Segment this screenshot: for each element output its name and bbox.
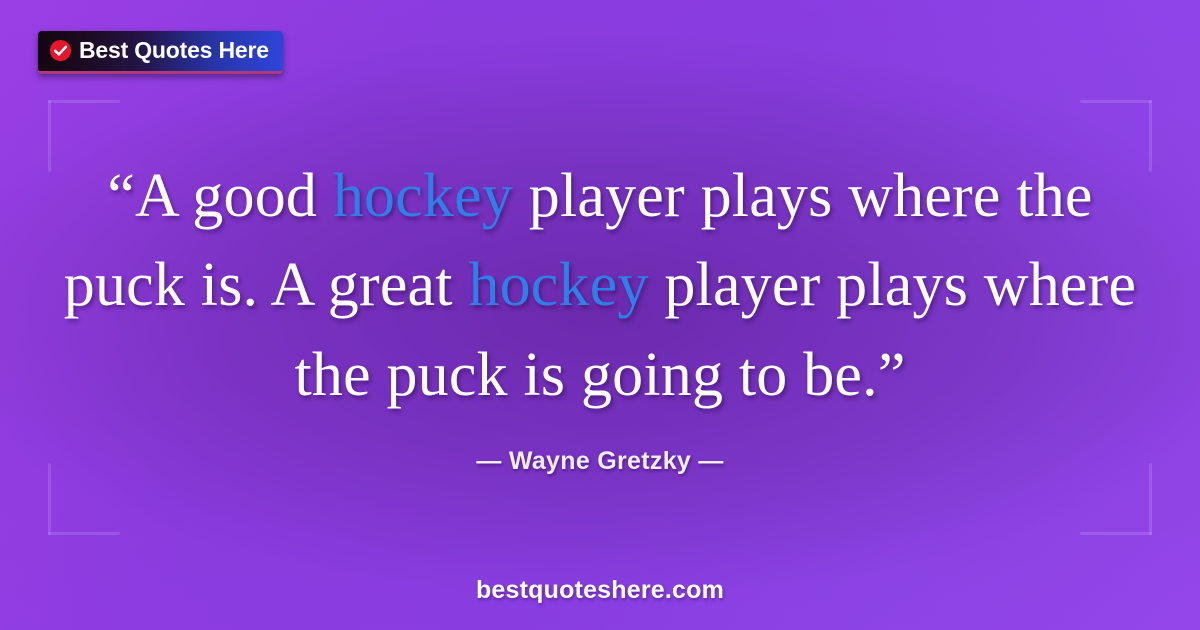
- brand-badge-label: Best Quotes Here: [79, 39, 269, 62]
- quote-segment-0: “A good: [107, 162, 332, 230]
- quote-text: “A good hockey player plays where the pu…: [60, 152, 1140, 420]
- quote-highlight-word: hockey: [333, 162, 513, 230]
- check-circle-icon: [49, 39, 72, 62]
- quote-card: Best Quotes Here “A good hockey player p…: [0, 0, 1200, 630]
- quote-highlight-word: hockey: [468, 251, 648, 319]
- quote-block: “A good hockey player plays where the pu…: [0, 152, 1200, 420]
- brand-badge[interactable]: Best Quotes Here: [38, 31, 283, 74]
- quote-attribution: — Wayne Gretzky —: [0, 447, 1200, 476]
- site-footer: bestquoteshere.com: [0, 576, 1200, 605]
